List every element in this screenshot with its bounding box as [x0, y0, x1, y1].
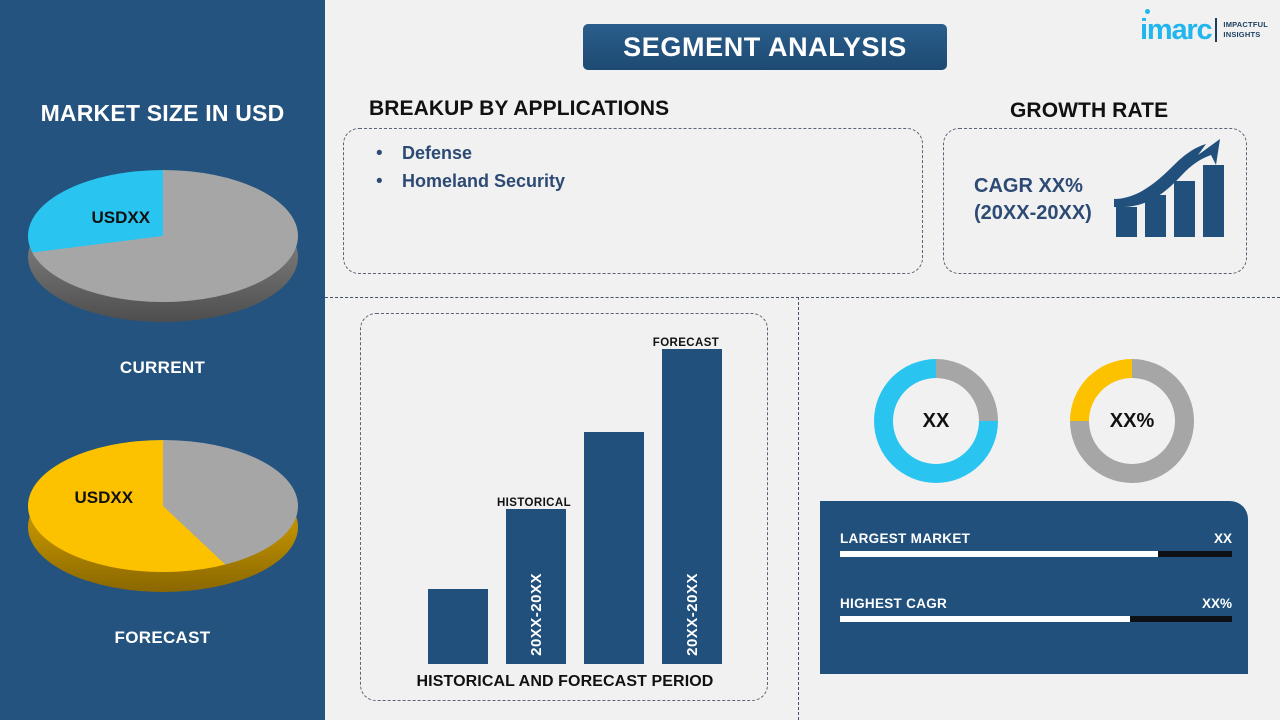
page-title: SEGMENT ANALYSIS: [623, 32, 907, 63]
current-pie-chart: USDXX: [28, 170, 298, 320]
current-pie-group: USDXX CURRENT: [0, 170, 325, 378]
forecast-pie-chart: USDXX: [28, 440, 298, 590]
largest-market-progress-fill: [840, 551, 1158, 557]
highest-cagr-stat: HIGHEST CAGR XX%: [840, 596, 1232, 622]
highest-cagr-progress-track: [840, 616, 1232, 622]
list-item[interactable]: • Homeland Security: [376, 171, 565, 192]
forecast-pie-group: USDXX FORECAST: [0, 440, 325, 648]
bar-4-label: 20XX-20XX: [684, 573, 701, 656]
horizontal-divider: [325, 297, 1280, 298]
infographic-page: MARKET SIZE IN USD USDXX CURRENT USDXX F…: [0, 0, 1280, 720]
cagr-text: CAGR XX% (20XX-20XX): [974, 173, 1092, 227]
market-size-sidebar: MARKET SIZE IN USD USDXX CURRENT USDXX F…: [0, 0, 325, 720]
logo-word-text: imarc: [1140, 14, 1211, 46]
period-chart-caption: HISTORICAL AND FORECAST PERIOD: [361, 673, 769, 691]
applications-list: • Defense • Homeland Security: [376, 143, 565, 199]
applications-box: • Defense • Homeland Security: [343, 128, 923, 274]
vertical-divider: [798, 297, 799, 720]
current-pie-surface: [28, 170, 298, 302]
bar-3: [584, 432, 644, 664]
current-pie-value-label: USDXX: [92, 208, 151, 228]
list-item[interactable]: • Defense: [376, 143, 565, 164]
highest-cagr-progress-fill: [840, 616, 1130, 622]
growth-rate-box: CAGR XX% (20XX-20XX): [943, 128, 1247, 274]
largest-market-donut: XX: [874, 359, 998, 483]
largest-market-label: LARGEST MARKET: [840, 531, 970, 546]
cagr-line-2: (20XX-20XX): [974, 200, 1092, 227]
largest-market-donut-center: XX: [893, 378, 979, 464]
logo-tagline-line2: INSIGHTS: [1223, 30, 1268, 40]
historical-annotation: HISTORICAL: [484, 497, 584, 509]
forecast-pie-surface: [28, 440, 298, 572]
key-stats-panel: LARGEST MARKET XX HIGHEST CAGR XX%: [820, 501, 1248, 674]
bar-2: 20XX-20XX: [506, 509, 566, 664]
logo-divider: [1215, 18, 1217, 42]
imarc-logo: imarc IMPACTFUL INSIGHTS: [1140, 12, 1268, 48]
highest-cagr-donut: XX%: [1070, 359, 1194, 483]
application-label: Defense: [402, 143, 472, 164]
highest-cagr-donut-label: XX%: [1110, 410, 1154, 433]
sidebar-title: MARKET SIZE IN USD: [0, 100, 325, 127]
segment-analysis-banner: SEGMENT ANALYSIS: [583, 24, 947, 70]
cagr-line-1: CAGR XX%: [974, 173, 1092, 200]
application-label: Homeland Security: [402, 171, 565, 192]
period-bar-chart-box: HISTORICAL FORECAST 20XX-20XX 20XX-20XX …: [360, 313, 768, 701]
main-content: SEGMENT ANALYSIS imarc IMPACTFUL INSIGHT…: [325, 0, 1280, 720]
logo-tagline-line1: IMPACTFUL: [1223, 20, 1268, 30]
largest-market-stat: LARGEST MARKET XX: [840, 531, 1232, 557]
largest-market-value: XX: [1214, 531, 1232, 546]
logo-wordmark: imarc: [1140, 16, 1211, 45]
forecast-annotation: FORECAST: [636, 337, 736, 349]
bullet-icon: •: [376, 144, 402, 163]
highest-cagr-donut-center: XX%: [1089, 378, 1175, 464]
bullet-icon: •: [376, 172, 402, 191]
growth-rate-heading: GROWTH RATE: [1010, 99, 1168, 123]
bar-1: [428, 589, 488, 664]
applications-heading: BREAKUP BY APPLICATIONS: [369, 97, 669, 121]
highest-cagr-label: HIGHEST CAGR: [840, 596, 947, 611]
current-pie-caption: CURRENT: [0, 358, 325, 378]
forecast-pie-caption: FORECAST: [0, 628, 325, 648]
bar-4: 20XX-20XX: [662, 349, 722, 664]
highest-cagr-value: XX%: [1202, 596, 1232, 611]
largest-market-donut-label: XX: [923, 410, 950, 433]
logo-dot-icon: [1145, 9, 1150, 14]
growth-bar-arrow-icon: [1112, 137, 1224, 246]
largest-market-progress-track: [840, 551, 1232, 557]
logo-tagline: IMPACTFUL INSIGHTS: [1223, 20, 1268, 40]
bar-2-label: 20XX-20XX: [528, 573, 545, 656]
forecast-pie-value-label: USDXX: [75, 488, 134, 508]
